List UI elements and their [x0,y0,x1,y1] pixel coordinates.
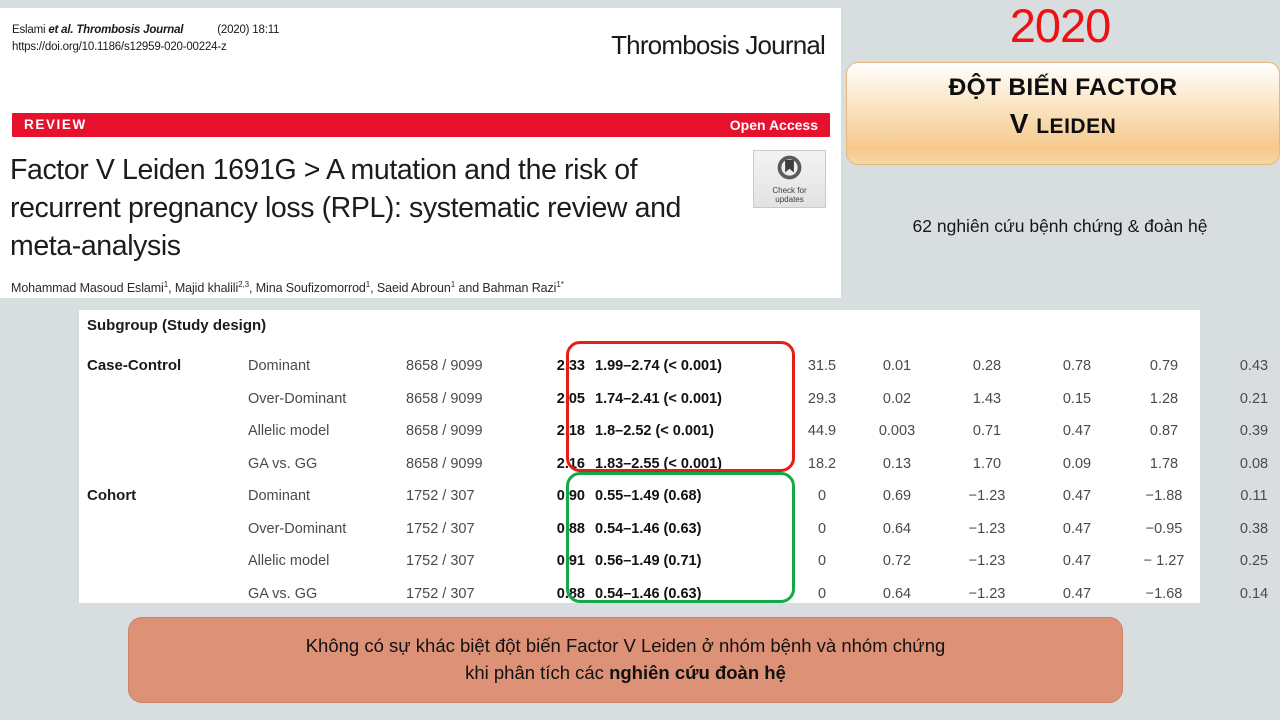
row-begg-p: 0.25 [1219,553,1280,569]
row-confidence-interval: 1.83–2.55 (< 0.001) [595,456,722,472]
row-i-squared: 44.9 [787,423,857,439]
row-confidence-interval: 1.99–2.74 (< 0.001) [595,358,722,374]
results-table-panel: Subgroup (Study design) Case-ControlDomi… [79,310,1200,603]
row-begg-z: 1.78 [1129,456,1199,472]
row-odds-ratio: 0.91 [495,553,585,569]
row-egger-t: −1.23 [952,553,1022,569]
table-row: Case-ControlDominant8658 / 90992.331.99–… [79,352,1200,385]
table-row: Over-Dominant8658 / 90992.051.74–2.41 (<… [79,385,1200,418]
slide-title-v: V [1010,108,1029,139]
row-odds-ratio: 2.05 [495,391,585,407]
row-egger-t: 1.70 [952,456,1022,472]
paper-title: Factor V Leiden 1691G > A mutation and t… [10,152,740,266]
conclusion-line-1: Không có sự khác biệt đột biến Factor V … [306,635,946,656]
row-egger-p: 0.47 [1042,423,1112,439]
row-i-squared: 31.5 [787,358,857,374]
row-confidence-interval: 0.54–1.46 (0.63) [595,586,701,602]
citation-prefix: Eslami [12,24,45,36]
row-begg-p: 0.14 [1219,586,1280,602]
row-begg-z: 1.28 [1129,391,1199,407]
row-begg-z: −1.68 [1129,586,1199,602]
crossmark-icon [777,155,802,180]
row-heterogeneity-p: 0.003 [862,423,932,439]
conclusion-line-2-normal: khi phân tích các [465,662,609,683]
row-begg-z: −1.88 [1129,488,1199,504]
row-genetic-model: GA vs. GG [248,456,317,472]
table-row: GA vs. GG8658 / 90992.161.83–2.55 (< 0.0… [79,450,1200,483]
paper-screenshot-panel: Eslami et al. Thrombosis Journal (2020) … [0,8,841,298]
review-openaccess-bar: REVIEW Open Access [12,113,830,137]
row-begg-p: 0.21 [1219,391,1280,407]
citation-year-volume: (2020) 18:11 [217,24,279,36]
row-begg-z: − 1.27 [1129,553,1199,569]
row-begg-p: 0.39 [1219,423,1280,439]
row-i-squared: 0 [787,521,857,537]
row-egger-p: 0.47 [1042,488,1112,504]
row-heterogeneity-p: 0.64 [862,521,932,537]
journal-masthead: Thrombosis Journal [611,30,825,61]
row-heterogeneity-p: 0.64 [862,586,932,602]
conclusion-text: Không có sự khác biệt đột biến Factor V … [306,633,946,687]
table-row: Allelic model1752 / 3070.910.56–1.49 (0.… [79,547,1200,580]
row-begg-z: 0.87 [1129,423,1199,439]
row-egger-t: 0.28 [952,358,1022,374]
row-i-squared: 18.2 [787,456,857,472]
row-egger-t: 1.43 [952,391,1022,407]
row-odds-ratio: 2.18 [495,423,585,439]
row-begg-p: 0.43 [1219,358,1280,374]
row-odds-ratio: 0.88 [495,586,585,602]
slide-title-line-1: ĐỘT BIẾN FACTOR [847,74,1279,102]
row-heterogeneity-p: 0.02 [862,391,932,407]
citation-journal-italic: et al. Thrombosis Journal [48,24,183,36]
row-confidence-interval: 0.56–1.49 (0.71) [595,553,701,569]
row-egger-p: 0.15 [1042,391,1112,407]
row-confidence-interval: 0.54–1.46 (0.63) [595,521,701,537]
table-row: GA vs. GG1752 / 3070.880.54–1.46 (0.63)0… [79,580,1200,613]
row-i-squared: 0 [787,488,857,504]
row-odds-ratio: 0.88 [495,521,585,537]
article-type-label: REVIEW [24,117,87,132]
row-egger-p: 0.47 [1042,521,1112,537]
row-begg-p: 0.08 [1219,456,1280,472]
row-heterogeneity-p: 0.69 [862,488,932,504]
row-egger-p: 0.09 [1042,456,1112,472]
conclusion-banner: Không có sự khác biệt đột biến Factor V … [128,617,1123,703]
row-group-label: Case-Control [87,357,181,374]
table-row: Over-Dominant1752 / 3070.880.54–1.46 (0.… [79,515,1200,548]
row-begg-z: 0.79 [1129,358,1199,374]
citation-doi: https://doi.org/10.1186/s12959-020-00224… [12,41,227,53]
crossmark-line-1: Check for [754,186,825,195]
row-egger-t: −1.23 [952,521,1022,537]
crossmark-badge[interactable]: Check for updates [753,150,826,208]
table-row: CohortDominant1752 / 3070.900.55–1.49 (0… [79,482,1200,515]
crossmark-line-2: updates [754,195,825,204]
row-confidence-interval: 1.74–2.41 (< 0.001) [595,391,722,407]
row-genetic-model: Dominant [248,488,310,504]
row-group-label: Cohort [87,487,136,504]
row-odds-ratio: 0.90 [495,488,585,504]
year-label: 2020 [840,0,1280,53]
study-count-subtitle: 62 nghiên cứu bệnh chứng & đoàn hệ [840,216,1280,237]
slide-title-leiden: LEIDEN [1036,115,1116,138]
paper-authors: Mohammad Masoud Eslami1, Majid khalili2,… [11,280,811,295]
row-confidence-interval: 1.8–2.52 (< 0.001) [595,423,714,439]
row-egger-p: 0.47 [1042,553,1112,569]
slide-title-box: ĐỘT BIẾN FACTOR V LEIDEN [846,62,1280,165]
row-genetic-model: Dominant [248,358,310,374]
open-access-label: Open Access [730,117,818,133]
row-heterogeneity-p: 0.13 [862,456,932,472]
row-odds-ratio: 2.33 [495,358,585,374]
row-genetic-model: Over-Dominant [248,521,346,537]
row-begg-z: −0.95 [1129,521,1199,537]
row-egger-t: −1.23 [952,488,1022,504]
row-genetic-model: Allelic model [248,423,329,439]
row-odds-ratio: 2.16 [495,456,585,472]
row-egger-p: 0.47 [1042,586,1112,602]
table-row: Allelic model8658 / 90992.181.8–2.52 (< … [79,417,1200,450]
conclusion-line-2-bold: nghiên cứu đoàn hệ [609,662,786,683]
row-genetic-model: GA vs. GG [248,586,317,602]
row-genetic-model: Allelic model [248,553,329,569]
row-heterogeneity-p: 0.72 [862,553,932,569]
row-egger-t: −1.23 [952,586,1022,602]
row-confidence-interval: 0.55–1.49 (0.68) [595,488,701,504]
row-i-squared: 0 [787,553,857,569]
row-i-squared: 29.3 [787,391,857,407]
row-begg-p: 0.38 [1219,521,1280,537]
row-i-squared: 0 [787,586,857,602]
table-section-header: Subgroup (Study design) [87,317,266,334]
row-begg-p: 0.11 [1219,488,1280,504]
row-egger-t: 0.71 [952,423,1022,439]
paper-citation-meta: Eslami et al. Thrombosis Journal (2020) … [12,22,279,55]
slide-title-line-2: V LEIDEN [847,108,1279,140]
row-genetic-model: Over-Dominant [248,391,346,407]
row-heterogeneity-p: 0.01 [862,358,932,374]
row-egger-p: 0.78 [1042,358,1112,374]
